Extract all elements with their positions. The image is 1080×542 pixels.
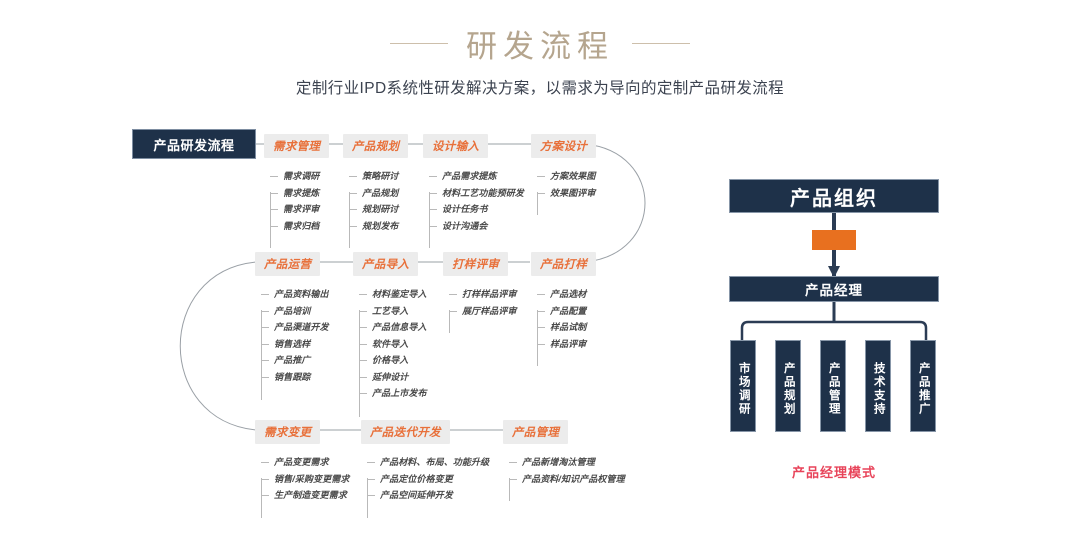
list-item: 产品培训 <box>261 303 329 320</box>
list-item: 需求归档 <box>270 218 329 235</box>
org-connectors <box>700 0 1080 542</box>
list-item: 产品渠道开发 <box>261 319 329 336</box>
list-item: 产品定位价格变更 <box>367 471 489 488</box>
flow-node-items: 打样样品评审 展厅样品评审 <box>449 286 517 319</box>
list-item: 产品材料、布局、功能升级 <box>367 454 489 471</box>
list-item: 样品试制 <box>537 319 596 336</box>
flow-node-label[interactable]: 产品管理 <box>503 420 568 444</box>
flow-node-label[interactable]: 需求变更 <box>255 420 320 444</box>
flow-node-label[interactable]: 产品规划 <box>343 134 408 158</box>
list-item: 材料工艺功能预研发 <box>429 185 524 202</box>
list-item: 产品信息导入 <box>359 319 427 336</box>
flow-node-chanpinguihua[interactable]: 产品规划 策略研讨 产品规划 规划研讨 规划发布 <box>343 134 408 234</box>
org-title-box[interactable]: 产品组织 <box>729 179 939 213</box>
flow-node-label[interactable]: 设计输入 <box>423 134 488 158</box>
flow-node-items: 方案效果图 效果图评审 <box>537 168 596 201</box>
flow-node-fanganshji[interactable]: 方案设计 方案效果图 效果图评审 <box>531 134 596 201</box>
list-item: 需求评审 <box>270 201 329 218</box>
flow-node-label[interactable]: 产品打样 <box>531 252 596 276</box>
flow-root-label: 产品研发流程 <box>153 135 234 154</box>
flow-node-items: 策略研讨 产品规划 规划研讨 规划发布 <box>349 168 408 234</box>
list-item: 生产制造变更需求 <box>261 487 349 504</box>
list-item: 设计任务书 <box>429 201 524 218</box>
org-manager-label: 产品经理 <box>805 279 863 299</box>
list-item: 产品上市发布 <box>359 385 427 402</box>
flow-node-chanpinyunying[interactable]: 产品运营 产品资料输出 产品培训 产品渠道开发 销售选样 产品推广 销售跟踪 <box>255 252 329 385</box>
list-item: 产品配置 <box>537 303 596 320</box>
list-item: 需求调研 <box>270 168 329 185</box>
list-item: 产品新增淘汰管理 <box>509 454 625 471</box>
flow-node-shejishuru[interactable]: 设计输入 产品需求提炼 材料工艺功能预研发 设计任务书 设计沟通会 <box>423 134 524 234</box>
flow-node-label[interactable]: 产品导入 <box>353 252 418 276</box>
flow-node-items: 产品资料输出 产品培训 产品渠道开发 销售选样 产品推广 销售跟踪 <box>261 286 329 385</box>
list-item: 销售/采购变更需求 <box>261 471 349 488</box>
list-item: 产品规划 <box>349 185 408 202</box>
flow-node-chanpindayang[interactable]: 产品打样 产品选材 产品配置 样品试制 样品评审 <box>531 252 596 352</box>
flow-node-label[interactable]: 打样评审 <box>443 252 508 276</box>
list-item: 销售跟踪 <box>261 369 329 386</box>
list-item: 产品变更需求 <box>261 454 349 471</box>
flow-node-chanpindaoru[interactable]: 产品导入 材料鉴定导入 工艺导入 产品信息导入 软件导入 价格导入 延伸设计 产… <box>353 252 427 402</box>
list-item: 规划研讨 <box>349 201 408 218</box>
flow-root-node[interactable]: 产品研发流程 <box>132 129 256 159</box>
list-item: 样品评审 <box>537 336 596 353</box>
list-item: 策略研讨 <box>349 168 408 185</box>
org-orange-connector <box>812 230 856 250</box>
slide-canvas: 研发流程 定制行业IPD系统性研发解决方案，以需求为导向的定制产品研发流程 <box>0 0 1080 542</box>
list-item: 产品需求提炼 <box>429 168 524 185</box>
flow-node-chanpinguanli[interactable]: 产品管理 产品新增淘汰管理 产品资料/知识产品权管理 <box>503 420 625 487</box>
list-item: 设计沟通会 <box>429 218 524 235</box>
flow-node-label[interactable]: 需求管理 <box>264 134 329 158</box>
list-item: 销售选样 <box>261 336 329 353</box>
list-item: 产品推广 <box>261 352 329 369</box>
flow-node-chanpindiedaikaifa[interactable]: 产品迭代开发 产品材料、布局、功能升级 产品定位价格变更 产品空间延伸开发 <box>361 420 489 504</box>
list-item: 价格导入 <box>359 352 427 369</box>
list-item: 产品资料/知识产品权管理 <box>509 471 625 488</box>
list-item: 规划发布 <box>349 218 408 235</box>
flow-node-items: 产品新增淘汰管理 产品资料/知识产品权管理 <box>509 454 625 487</box>
org-dept-product-planning[interactable]: 产品规划 <box>775 340 801 432</box>
list-item: 延伸设计 <box>359 369 427 386</box>
list-item: 效果图评审 <box>537 185 596 202</box>
flow-node-items: 材料鉴定导入 工艺导入 产品信息导入 软件导入 价格导入 延伸设计 产品上市发布 <box>359 286 427 402</box>
flow-node-items: 需求调研 需求提炼 需求评审 需求归档 <box>270 168 329 234</box>
product-organization-chart: 产品组织 产品经理 市场调研 产品规划 产品管理 技术支持 产品推广 产品经理模… <box>700 0 1080 542</box>
org-dept-tech-support[interactable]: 技术支持 <box>865 340 891 432</box>
flow-node-label[interactable]: 产品运营 <box>255 252 320 276</box>
org-dept-market-research[interactable]: 市场调研 <box>730 340 756 432</box>
list-item: 方案效果图 <box>537 168 596 185</box>
list-item: 需求提炼 <box>270 185 329 202</box>
org-caption: 产品经理模式 <box>700 462 968 481</box>
org-title-label: 产品组织 <box>790 182 878 211</box>
product-development-flowchart: 产品研发流程 需求管理 需求调研 需求提炼 需求评审 需求归档 产品规划 策略研… <box>0 0 700 542</box>
org-manager-box[interactable]: 产品经理 <box>729 276 939 302</box>
list-item: 打样样品评审 <box>449 286 517 303</box>
flow-node-xuqiuguanli[interactable]: 需求管理 需求调研 需求提炼 需求评审 需求归档 <box>264 134 329 234</box>
list-item: 展厅样品评审 <box>449 303 517 320</box>
org-dept-product-management[interactable]: 产品管理 <box>820 340 846 432</box>
flow-node-label[interactable]: 产品迭代开发 <box>361 420 450 444</box>
flow-node-items: 产品选材 产品配置 样品试制 样品评审 <box>537 286 596 352</box>
list-item: 产品选材 <box>537 286 596 303</box>
flow-node-label[interactable]: 方案设计 <box>531 134 596 158</box>
list-item: 产品资料输出 <box>261 286 329 303</box>
list-item: 材料鉴定导入 <box>359 286 427 303</box>
flow-node-items: 产品需求提炼 材料工艺功能预研发 设计任务书 设计沟通会 <box>429 168 524 234</box>
list-item: 软件导入 <box>359 336 427 353</box>
list-item: 产品空间延伸开发 <box>367 487 489 504</box>
flow-node-dayangpingshen[interactable]: 打样评审 打样样品评审 展厅样品评审 <box>443 252 517 319</box>
flow-node-xuqiubiangeng[interactable]: 需求变更 产品变更需求 销售/采购变更需求 生产制造变更需求 <box>255 420 349 504</box>
flow-node-items: 产品变更需求 销售/采购变更需求 生产制造变更需求 <box>261 454 349 504</box>
org-dept-product-promotion[interactable]: 产品推广 <box>910 340 936 432</box>
list-item: 工艺导入 <box>359 303 427 320</box>
flow-node-items: 产品材料、布局、功能升级 产品定位价格变更 产品空间延伸开发 <box>367 454 489 504</box>
